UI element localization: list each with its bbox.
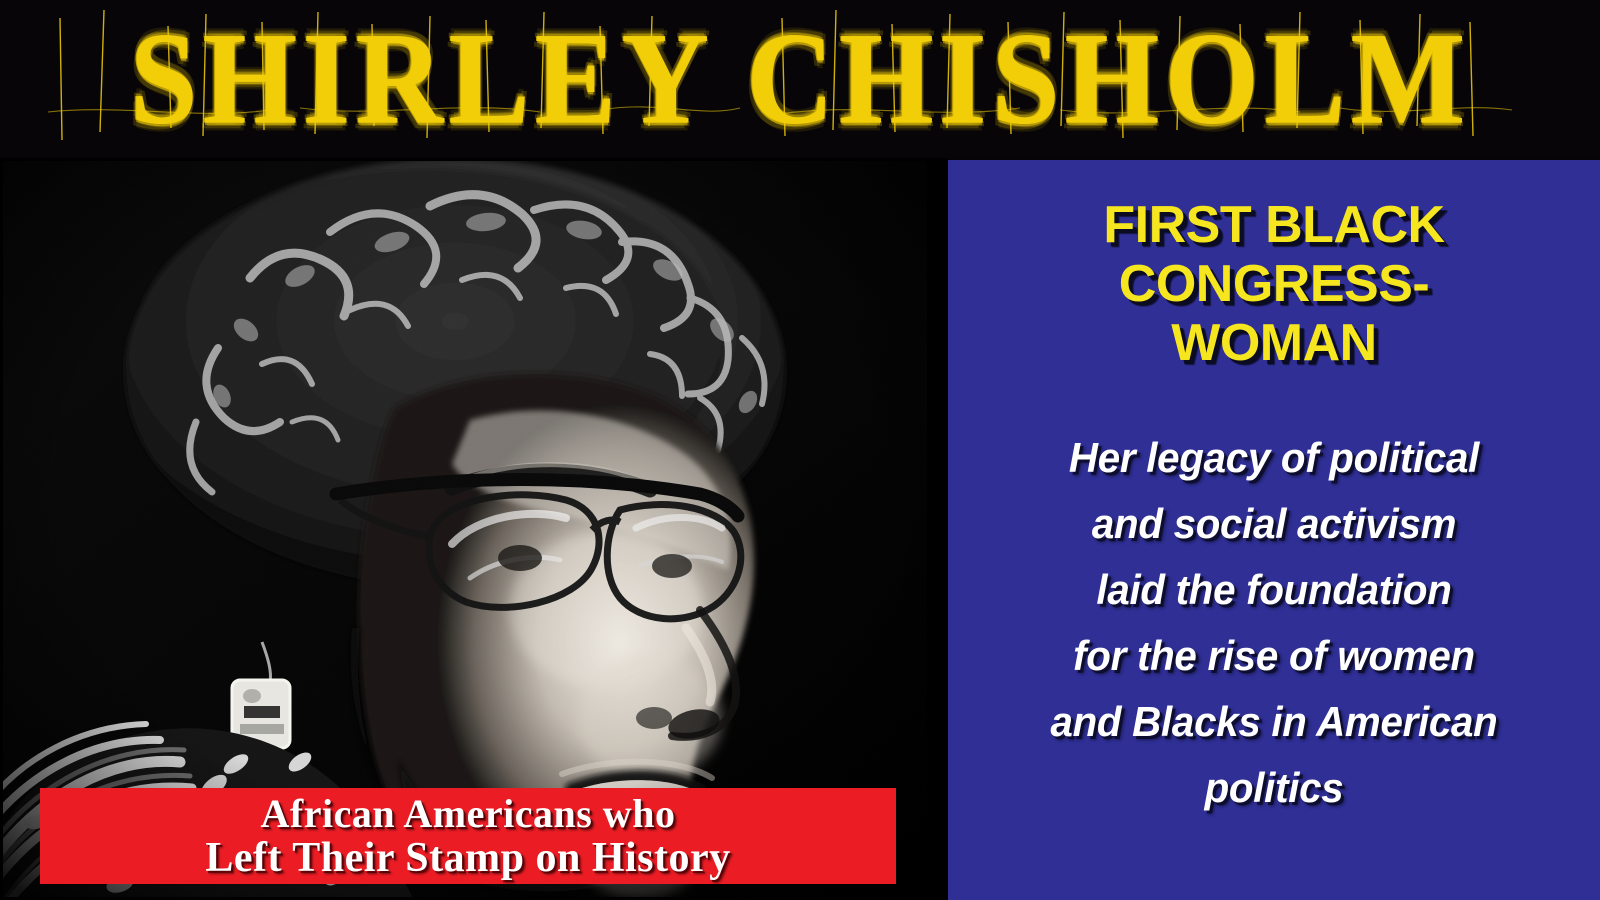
panel-heading-line-3: WOMAN <box>972 314 1576 373</box>
poster-title: SHIRLEY CHISHOLM <box>130 13 1471 145</box>
panel-heading-line-1: FIRST BLACK <box>972 196 1576 255</box>
panel-body-line-4: for the rise of women <box>984 623 1564 689</box>
panel-body: Her legacy of political and social activ… <box>984 425 1564 821</box>
panel-seam <box>930 158 948 900</box>
panel-body-line-5: and Blacks in American <box>984 689 1564 755</box>
panel-body-line-1: Her legacy of political <box>984 425 1564 491</box>
title-bar: SHIRLEY CHISHOLM <box>0 0 1600 158</box>
panel-heading: FIRST BLACK CONGRESS- WOMAN <box>972 196 1576 373</box>
series-banner-line-2: Left Their Stamp on History <box>205 836 730 880</box>
series-banner: African Americans who Left Their Stamp o… <box>40 788 896 884</box>
series-banner-line-1: African Americans who <box>261 792 676 836</box>
panel-body-line-6: politics <box>984 755 1564 821</box>
panel-heading-line-2: CONGRESS- <box>972 255 1576 314</box>
info-panel: FIRST BLACK CONGRESS- WOMAN Her legacy o… <box>948 160 1600 900</box>
panel-body-line-3: laid the foundation <box>984 557 1564 623</box>
poster-root: SHIRLEY CHISHOLM <box>0 0 1600 900</box>
panel-body-line-2: and social activism <box>984 491 1564 557</box>
